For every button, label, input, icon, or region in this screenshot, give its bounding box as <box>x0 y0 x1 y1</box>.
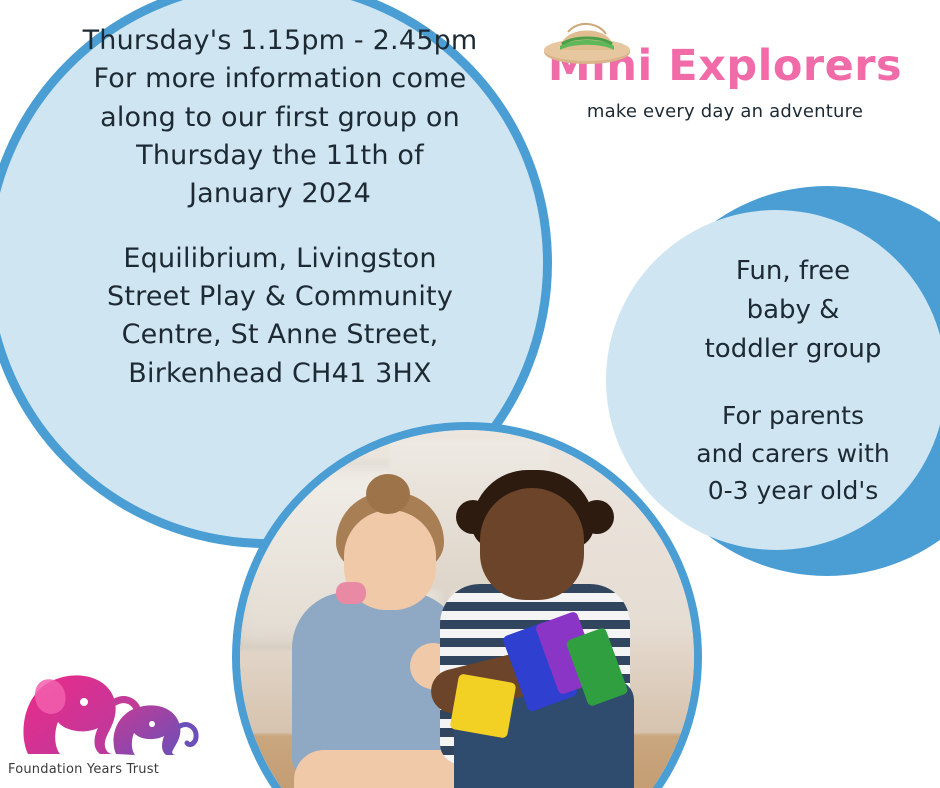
child-right-hair-puff-right <box>580 500 614 534</box>
elephant-logo-icon <box>14 636 204 776</box>
toy-block-yellow <box>450 673 517 738</box>
info-circle-left-text: Thursday's 1.15pm - 2.45pm For more info… <box>40 22 520 393</box>
address-line-1: Equilibrium, Livingston <box>40 240 520 278</box>
schedule-line-3: along to our first group on <box>40 99 520 137</box>
schedule-line-4: Thursday the 11th of <box>40 137 520 175</box>
child-right-head <box>480 488 584 600</box>
explorer-hat-icon <box>542 10 632 66</box>
photo-children-playing <box>240 430 694 788</box>
photo-circle <box>232 422 702 788</box>
child-left-bow <box>336 582 366 604</box>
address-line-3: Centre, St Anne Street, <box>40 316 520 354</box>
highlight-line-4: For parents <box>648 397 938 435</box>
brand-tagline: make every day an adventure <box>520 101 930 122</box>
highlight-line-1: Fun, free <box>648 252 938 291</box>
brand-block: Mini Explorers make every day an adventu… <box>520 10 930 122</box>
address-line-4: Birkenhead CH41 3HX <box>40 355 520 393</box>
schedule-line-1: Thursday's 1.15pm - 2.45pm <box>40 22 520 60</box>
highlight-line-3: toddler group <box>648 330 938 369</box>
child-left-hair-bun <box>366 474 410 514</box>
highlight-line-2: baby & <box>648 291 938 330</box>
address-line-2: Street Play & Community <box>40 278 520 316</box>
schedule-line-2: For more information come <box>40 60 520 98</box>
poster-canvas: Thursday's 1.15pm - 2.45pm For more info… <box>0 0 940 788</box>
logo-wordmark: Foundation Years Trust <box>8 762 208 777</box>
schedule-line-5: January 2024 <box>40 175 520 213</box>
